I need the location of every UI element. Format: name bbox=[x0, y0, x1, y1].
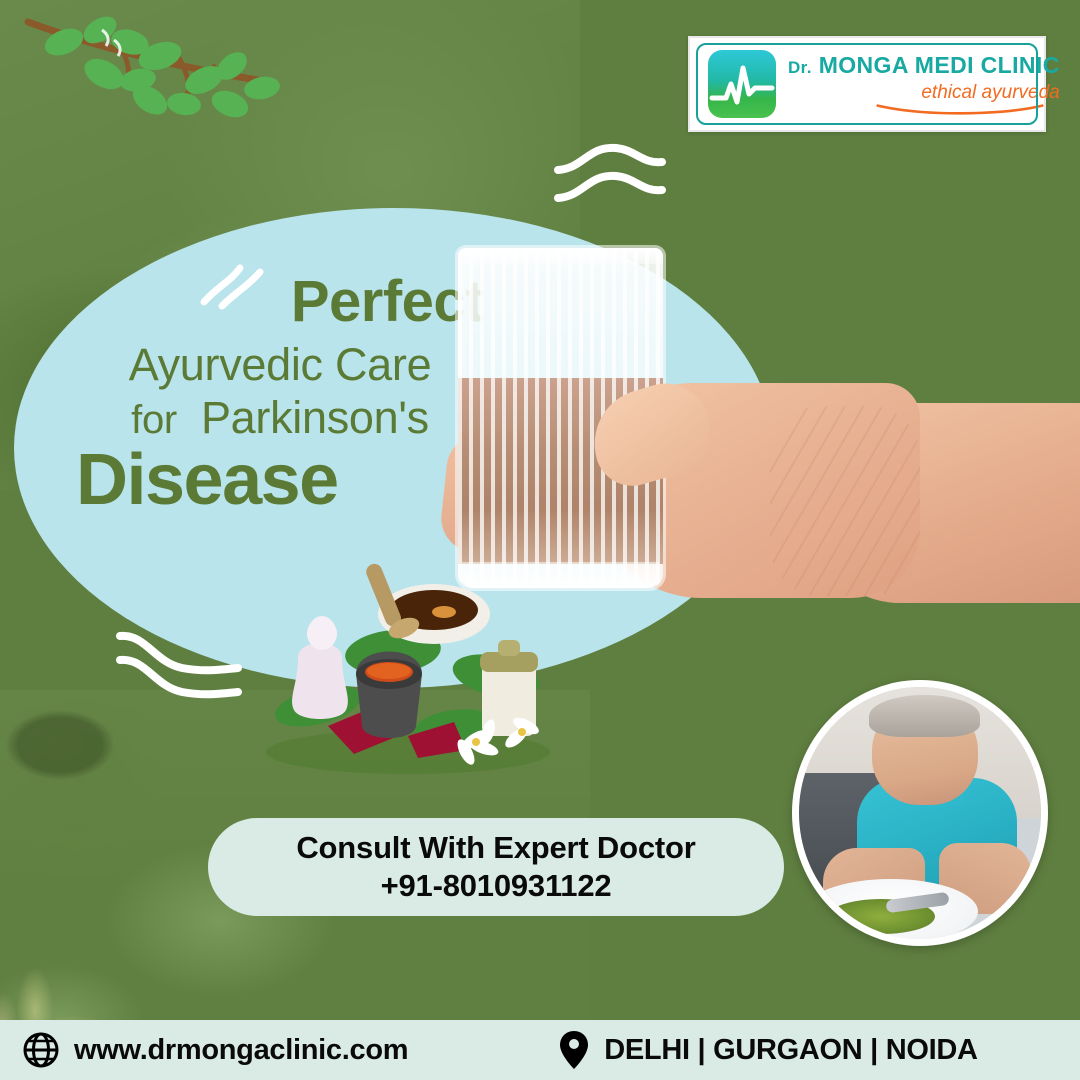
headline-line-1: Perfect bbox=[70, 272, 490, 331]
cta-label: Consult With Expert Doctor bbox=[296, 831, 695, 865]
globe-icon bbox=[22, 1031, 60, 1069]
logo-title: Dr. MONGA MEDI CLINIC bbox=[788, 54, 1060, 77]
headline-condition: Parkinson's bbox=[201, 392, 429, 443]
ayurvedic-herbs-mortar-pestle bbox=[258, 556, 558, 776]
leaf-branch-icon bbox=[18, 8, 308, 158]
footer-locations-text: DELHI | GURGAON | NOIDA bbox=[604, 1034, 977, 1067]
footer-website[interactable]: www.drmongaclinic.com bbox=[22, 1031, 408, 1069]
knuckle-shading bbox=[770, 406, 920, 596]
headline-block: Perfect Ayurvedic Care forParkinson's Di… bbox=[70, 272, 490, 516]
footer-website-text: www.drmongaclinic.com bbox=[74, 1034, 408, 1067]
ecg-heartbeat-icon bbox=[708, 50, 776, 118]
cta-phone[interactable]: +91-8010931122 bbox=[381, 869, 612, 903]
logo-title-main: MONGA MEDI CLINIC bbox=[819, 52, 1060, 78]
headline-line-2: Ayurvedic Care bbox=[70, 341, 490, 388]
footer-bar: www.drmongaclinic.com DELHI | GURGAON | … bbox=[0, 1020, 1080, 1080]
logo-text-block: Dr. MONGA MEDI CLINIC ethical ayurveda bbox=[788, 54, 1060, 115]
wavy-lines-icon bbox=[550, 140, 670, 232]
clinic-logo[interactable]: Dr. MONGA MEDI CLINIC ethical ayurveda bbox=[688, 36, 1046, 132]
footer-locations: DELHI | GURGAON | NOIDA bbox=[558, 1029, 977, 1071]
headline-for: for bbox=[131, 398, 177, 442]
logo-tagline: ethical ayurveda bbox=[788, 83, 1060, 102]
poster-canvas: Perfect Ayurvedic Care forParkinson's Di… bbox=[0, 0, 1080, 1080]
wavy-lines-icon bbox=[112, 618, 246, 710]
glass-rim bbox=[458, 248, 663, 264]
photo-hair bbox=[869, 695, 980, 738]
logo-swoosh-icon bbox=[860, 103, 1060, 115]
headline-line-3: forParkinson's bbox=[70, 394, 490, 441]
logo-title-prefix: Dr. bbox=[788, 58, 812, 77]
elderly-man-eating-soup bbox=[792, 680, 1048, 946]
headline-line-4: Disease bbox=[70, 444, 490, 516]
cta-banner[interactable]: Consult With Expert Doctor +91-801093112… bbox=[208, 818, 784, 916]
map-pin-icon bbox=[558, 1029, 590, 1071]
